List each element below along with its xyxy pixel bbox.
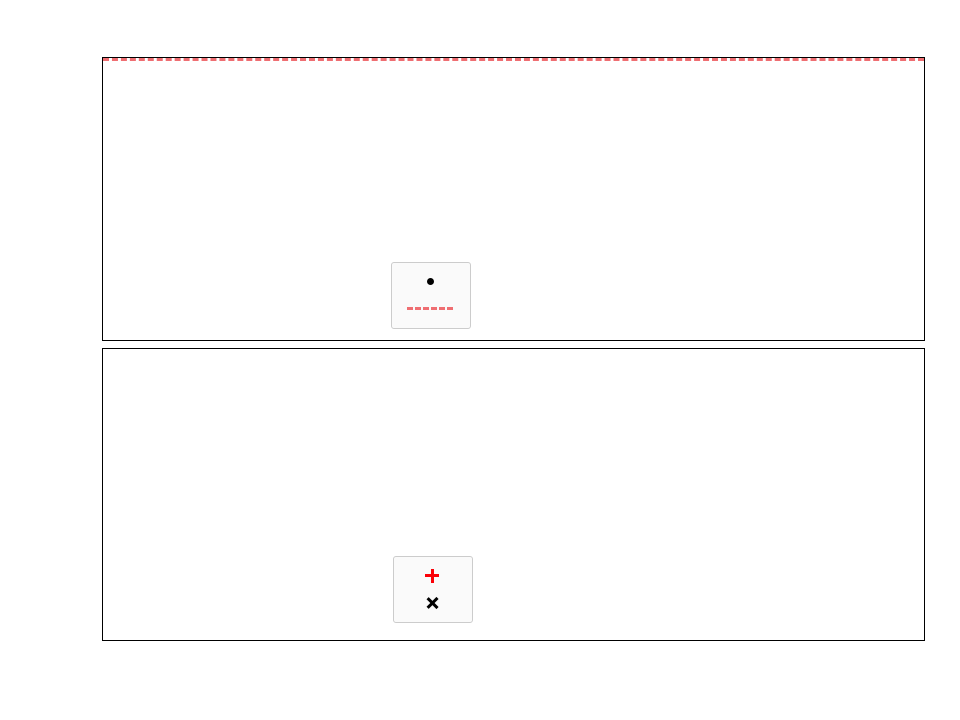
measurements-marker-icon — [402, 272, 458, 292]
threshold-line — [103, 58, 924, 61]
legend-item-measurements[interactable] — [402, 268, 458, 295]
predicted-stars-marker-icon — [404, 593, 460, 613]
top-panel-legend[interactable] — [391, 262, 471, 329]
bottom-panel-axes — [102, 348, 925, 641]
matched-stars-marker-icon — [404, 566, 460, 586]
legend-item-threshold[interactable] — [402, 295, 458, 322]
legend-item-predicted-stars[interactable] — [404, 589, 460, 616]
top-panel-axes — [102, 57, 925, 341]
bottom-panel-legend[interactable] — [393, 556, 473, 623]
threshold-marker-icon — [402, 299, 458, 319]
legend-item-matched-stars[interactable] — [404, 562, 460, 589]
figure-canvas — [0, 0, 960, 720]
